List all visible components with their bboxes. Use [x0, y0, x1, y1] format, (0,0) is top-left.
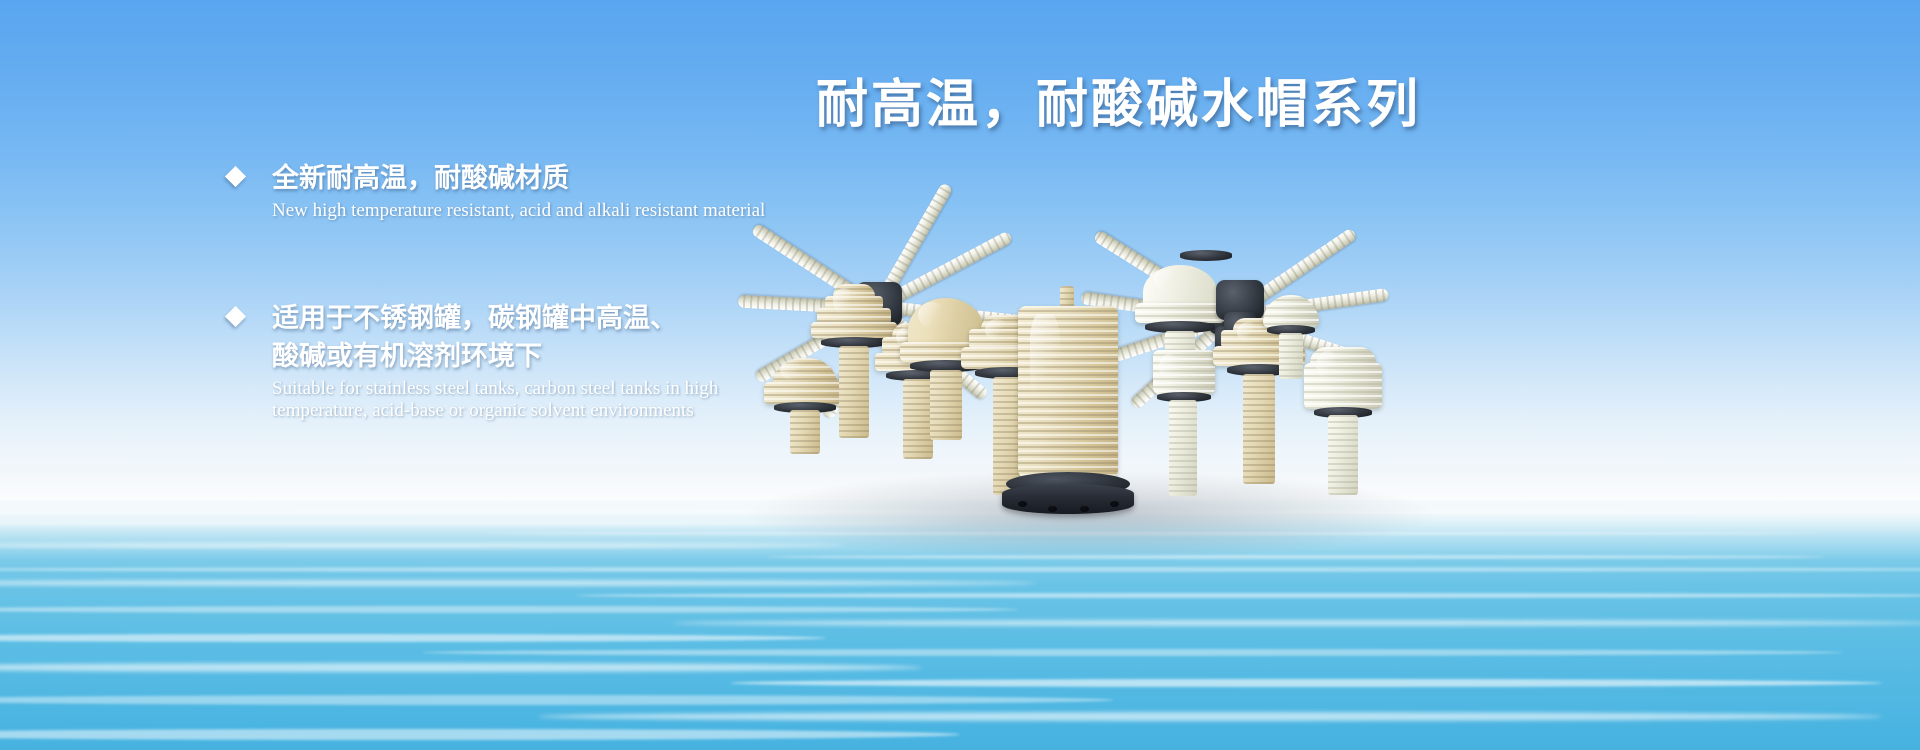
- large-stacked-strainer: [1000, 280, 1140, 530]
- diamond-bullet-icon: [225, 306, 246, 327]
- product-banner: 耐高温，耐酸碱水帽系列 全新耐高温，耐酸碱材质 New high tempera…: [0, 0, 1920, 750]
- diamond-bullet-icon: [225, 166, 246, 187]
- product-group-image: [700, 140, 1500, 560]
- white-small-cap: [1245, 275, 1335, 415]
- banner-title: 耐高温，耐酸碱水帽系列: [816, 62, 1421, 137]
